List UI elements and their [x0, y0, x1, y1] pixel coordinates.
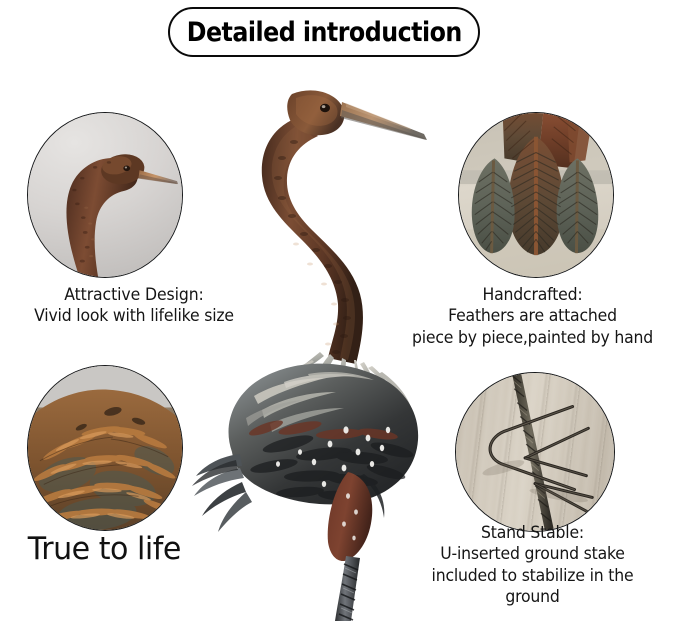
- page-title: Detailed introduction: [186, 19, 461, 46]
- feather-detail-illustration: [459, 113, 613, 277]
- feature-image-true-to-life: [27, 365, 183, 531]
- crane-head-illustration: [28, 113, 182, 277]
- caption-attractive-design: Attractive Design: Vivid look with lifel…: [7, 284, 262, 327]
- caption-handcrafted: Handcrafted: Feathers are attached piece…: [393, 284, 671, 348]
- title-badge: Detailed introduction: [168, 7, 480, 57]
- caption-line: ground: [393, 586, 671, 607]
- caption-line: Vivid look with lifelike size: [7, 305, 262, 326]
- caption-line: Handcrafted:: [393, 284, 671, 305]
- caption-line: U-inserted ground stake: [393, 543, 671, 564]
- feature-image-attractive-design: [27, 112, 183, 278]
- caption-line: Feathers are attached: [393, 305, 671, 326]
- ground-stake-illustration: [456, 373, 614, 531]
- caption-true-to-life: True to life: [28, 531, 271, 567]
- caption-line: piece by piece,painted by hand: [393, 327, 671, 348]
- feature-image-stand-stable: [455, 372, 615, 532]
- feature-image-handcrafted: [458, 112, 614, 278]
- caption-line: Stand Stable:: [393, 522, 671, 543]
- caption-line: Attractive Design:: [7, 284, 262, 305]
- rust-feather-illustration: [28, 366, 182, 530]
- infographic-canvas: Detailed introduction: [0, 0, 679, 621]
- caption-line: included to stabilize in the: [393, 565, 671, 586]
- caption-stand-stable: Stand Stable: U-inserted ground stake in…: [393, 522, 671, 608]
- caption-line: True to life: [28, 531, 181, 567]
